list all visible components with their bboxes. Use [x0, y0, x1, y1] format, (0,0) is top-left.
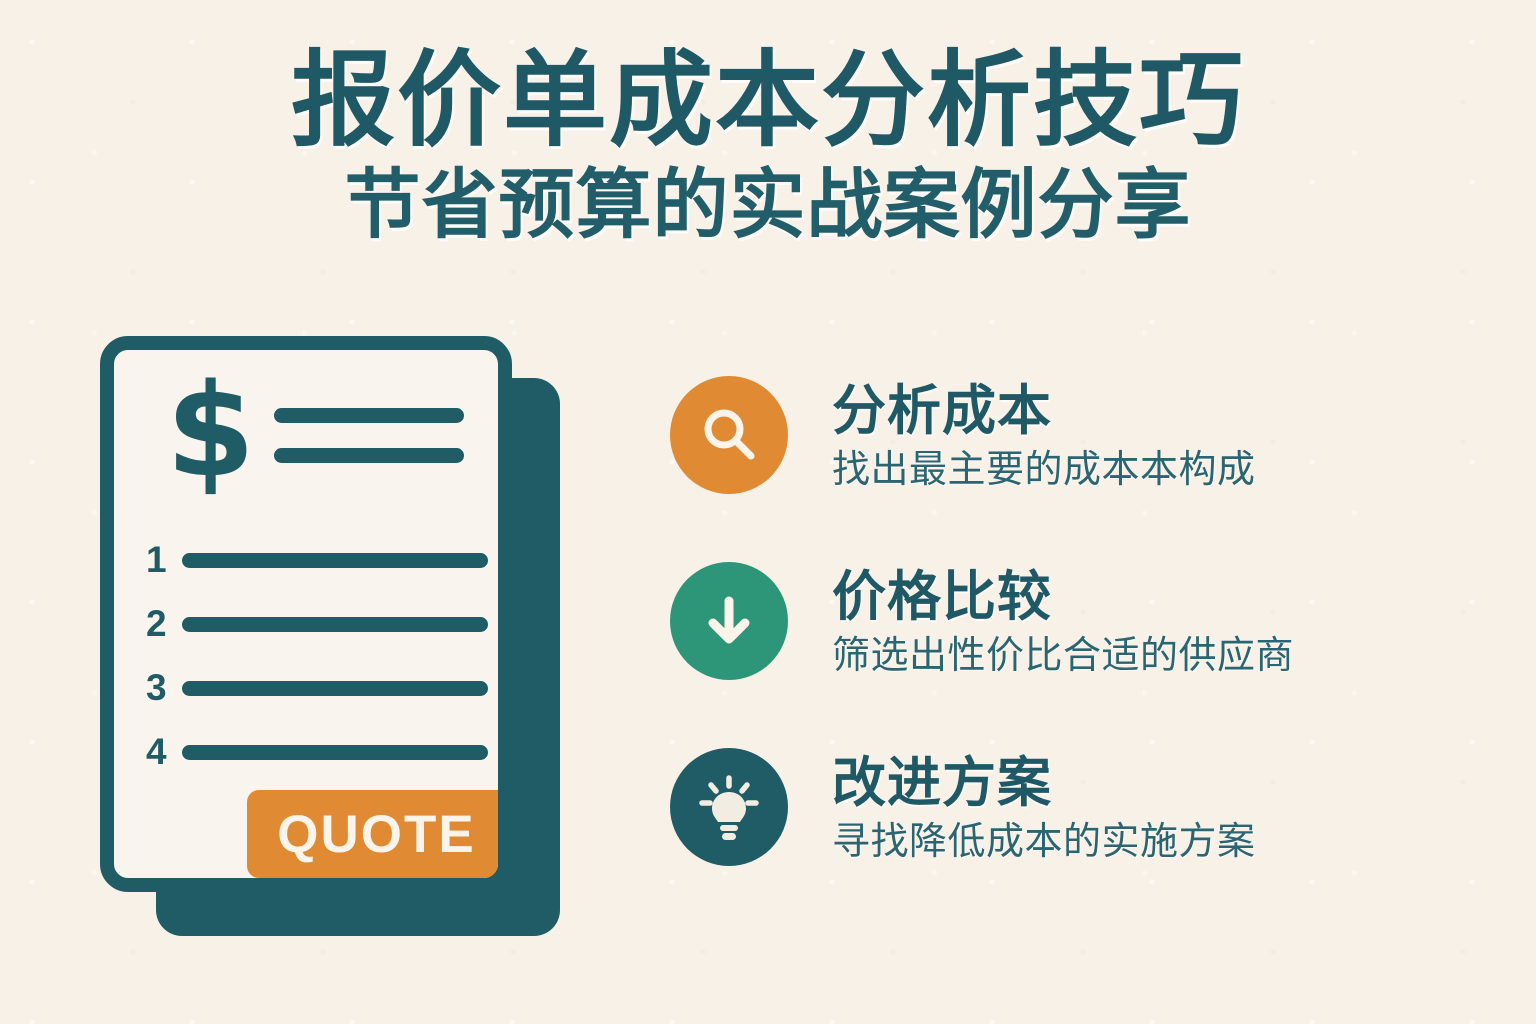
line-item-number: 3	[138, 667, 182, 709]
line-item-number: 4	[138, 731, 182, 773]
feature-item-analyze-cost: 分析成本 找出最主要的成本本构成	[670, 376, 1430, 494]
quote-document-illustration: $ 1 2 3 4 QUOTE	[100, 336, 570, 936]
document-line-items: 1 2 3 4	[138, 528, 498, 784]
feature-description: 找出最主要的成本本构成	[832, 449, 1256, 493]
feature-description: 寻找降低成本的实施方案	[832, 821, 1256, 865]
list-item: 3	[138, 656, 498, 720]
header-line	[274, 408, 464, 423]
page-title: 报价单成本分析技巧	[0, 46, 1536, 156]
page-subtitle: 节省预算的实战案例分享	[0, 164, 1536, 248]
lightbulb-icon	[670, 748, 788, 866]
header-line	[274, 448, 464, 463]
line-item-number: 1	[138, 539, 182, 581]
feature-item-price-comparison: 价格比较 筛选出性价比合适的供应商	[670, 562, 1430, 680]
list-item: 1	[138, 528, 498, 592]
quote-badge-label: QUOTE	[277, 804, 475, 865]
feature-title: 分析成本	[832, 382, 1256, 441]
line-item-bar	[182, 553, 488, 568]
dollar-sign-icon: $	[166, 368, 255, 496]
feature-title: 价格比较	[832, 568, 1294, 627]
feature-description: 筛选出性价比合适的供应商	[832, 635, 1294, 679]
list-item: 2	[138, 592, 498, 656]
quote-badge: QUOTE	[247, 790, 506, 878]
feature-text-group: 价格比较 筛选出性价比合适的供应商	[832, 562, 1294, 679]
line-item-number: 2	[138, 603, 182, 645]
document-front-sheet: $ 1 2 3 4 QUOTE	[100, 336, 512, 892]
feature-text-group: 改进方案 寻找降低成本的实施方案	[832, 748, 1256, 865]
down-arrow-icon	[670, 562, 788, 680]
magnifier-icon	[670, 376, 788, 494]
line-item-bar	[182, 745, 488, 760]
feature-text-group: 分析成本 找出最主要的成本本构成	[832, 376, 1256, 493]
line-item-bar	[182, 617, 488, 632]
document-header-lines	[274, 408, 464, 488]
feature-list: 分析成本 找出最主要的成本本构成 价格比较 筛选出性价比合适的供应商	[670, 376, 1430, 866]
feature-title: 改进方案	[832, 754, 1256, 813]
line-item-bar	[182, 681, 488, 696]
header: 报价单成本分析技巧 节省预算的实战案例分享	[0, 46, 1536, 248]
list-item: 4	[138, 720, 498, 784]
feature-item-improvement-plan: 改进方案 寻找降低成本的实施方案	[670, 748, 1430, 866]
